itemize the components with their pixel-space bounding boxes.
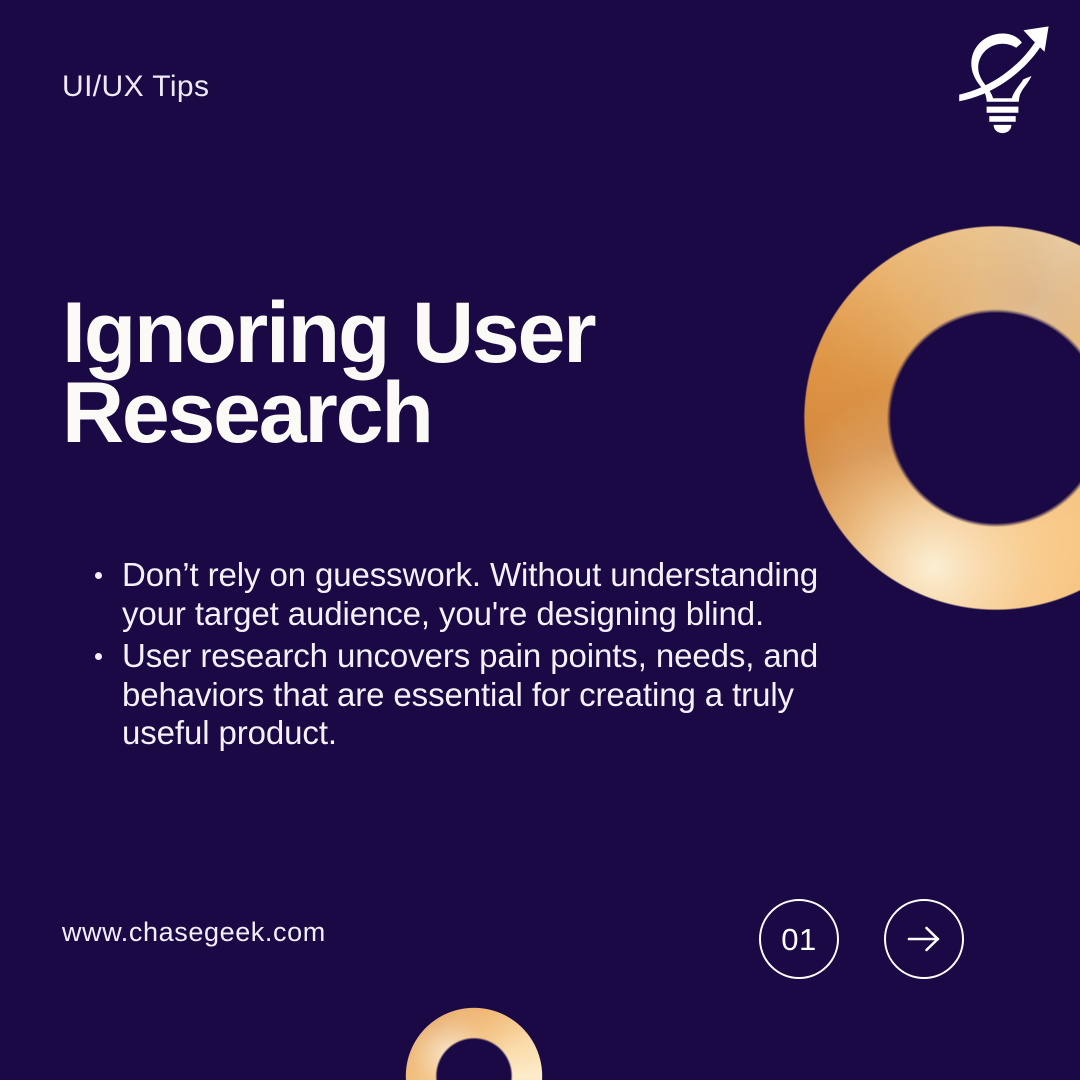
- list-item: Don’t rely on guesswork. Without underst…: [122, 556, 842, 633]
- site-url: www.chasegeek.com: [62, 917, 326, 948]
- torus-bottom: [364, 969, 584, 1080]
- tips-list: Don’t rely on guesswork. Without underst…: [78, 556, 842, 757]
- lightbulb-arrow-logo-icon: [955, 24, 1051, 136]
- page-number: 01: [781, 924, 816, 955]
- next-button[interactable]: [884, 899, 964, 979]
- eyebrow-label: UI/UX Tips: [62, 70, 209, 104]
- social-post-canvas: UI/UX Tips Ignoring User Research Don’t …: [0, 0, 1080, 1080]
- list-item: User research uncovers pain points, need…: [122, 637, 842, 753]
- torus-small-top: [388, 98, 534, 239]
- page-title: Ignoring User Research: [62, 294, 722, 454]
- page-indicator: 01: [759, 899, 839, 979]
- arrow-right-icon: [902, 917, 946, 961]
